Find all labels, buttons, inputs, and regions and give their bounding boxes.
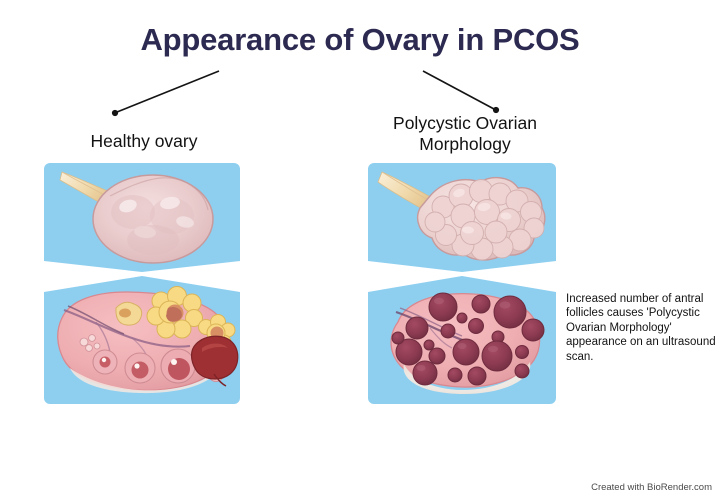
pcos-ovary-cross-section (391, 293, 544, 394)
ovary-illustration (0, 0, 720, 503)
biorender-credit: Created with BioRender.com (0, 482, 712, 493)
corpus-albicans (116, 302, 142, 325)
caption-text: Increased number of antral follicles cau… (566, 292, 716, 364)
illustration-canvas: Appearance of Ovary in PCOS Healthy ovar… (0, 0, 720, 503)
